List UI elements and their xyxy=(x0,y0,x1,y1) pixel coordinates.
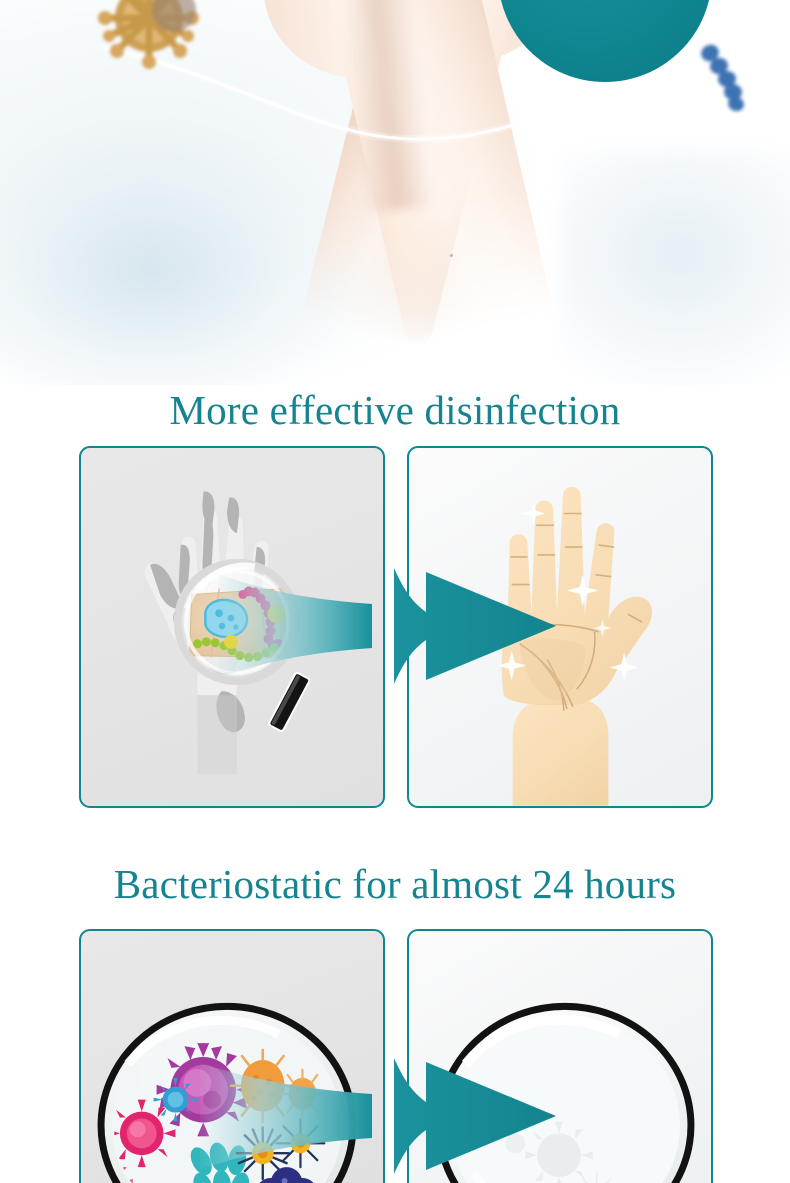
panel-clean-petri-dish xyxy=(407,929,713,1183)
gold-virus-particle-icon xyxy=(88,0,210,76)
petri-dish-nearly-empty-illustration xyxy=(409,931,711,1183)
peach-hand-palm xyxy=(502,487,652,806)
blue-bacillus-chain-icon xyxy=(700,44,754,114)
clean-peach-hand-illustration xyxy=(409,448,711,806)
blue-amoeba xyxy=(205,600,247,637)
grey-hand-with-magnifier-illustration xyxy=(81,448,383,806)
section-heading-bacteriostatic: Bacteriostatic for almost 24 hours xyxy=(0,864,790,905)
panel-clean-hand xyxy=(407,446,713,808)
section-heading-disinfection: More effective disinfection xyxy=(0,390,790,431)
hero-section: VIRUS xyxy=(0,0,790,385)
petri-dish-full-of-germs-illustration xyxy=(81,931,383,1183)
magnifying-glass xyxy=(178,563,296,681)
panel-contaminated-petri-dish xyxy=(79,929,385,1183)
panel-dirty-hand xyxy=(79,446,385,808)
yellow-starburst-germ xyxy=(277,1120,325,1168)
magnifier-handle xyxy=(267,671,311,733)
